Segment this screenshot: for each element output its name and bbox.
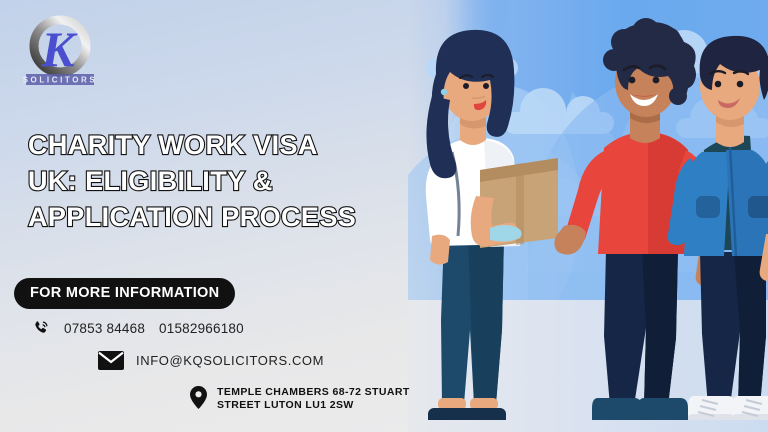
phone-number-1: 07853 84468 [64, 321, 145, 336]
office-address: TEMPLE CHAMBERS 68-72 STUART STREET LUTO… [217, 386, 410, 412]
phone-numbers: 07853 8446801582966180 [64, 321, 244, 336]
logo-subtext: SOLICITORS [23, 76, 98, 85]
contact-address-row[interactable]: TEMPLE CHAMBERS 68-72 STUART STREET LUTO… [190, 386, 410, 412]
title-line-1: CHARITY WORK VISA [28, 128, 368, 164]
logo-letter: K [40, 21, 78, 77]
title-line-2: UK: ELIGIBILITY & [28, 164, 368, 200]
woman-volunteer [426, 30, 558, 420]
phone-icon [32, 319, 50, 337]
page-title: CHARITY WORK VISA UK: ELIGIBILITY & APPL… [28, 128, 368, 236]
contact-phone-row[interactable]: 07853 8446801582966180 [32, 319, 244, 337]
company-logo[interactable]: K SOLICITORS [18, 10, 106, 92]
email-address: INFO@KQSOLICITORS.COM [136, 353, 324, 368]
address-line-1: TEMPLE CHAMBERS 68-72 STUART [217, 386, 410, 398]
people-group [408, 0, 768, 432]
title-line-3: APPLICATION PROCESS [28, 200, 368, 236]
envelope-icon [98, 351, 124, 370]
map-pin-icon [190, 386, 207, 409]
more-information-badge[interactable]: FOR MORE INFORMATION [14, 278, 235, 309]
phone-number-2: 01582966180 [159, 321, 244, 336]
promotional-banner: K SOLICITORS CHARITY WORK VISA UK: ELIGI… [0, 0, 768, 432]
volunteers-illustration [408, 0, 768, 432]
address-line-2: STREET LUTON LU1 2SW [217, 399, 354, 411]
contact-email-row[interactable]: INFO@KQSOLICITORS.COM [98, 351, 324, 370]
